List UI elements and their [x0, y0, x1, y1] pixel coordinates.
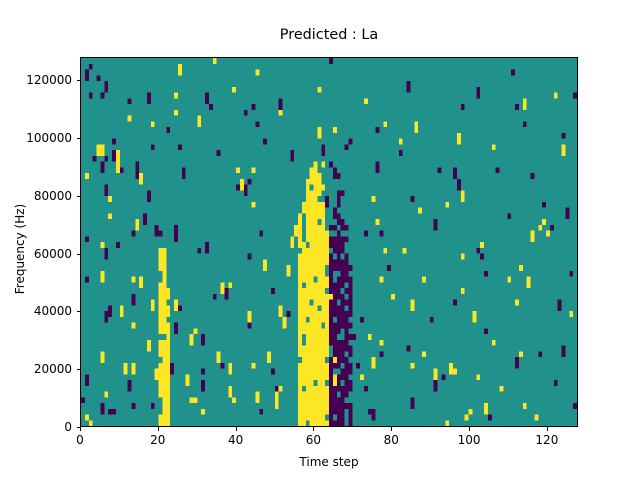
x-tick-mark — [391, 427, 392, 431]
x-tick-label: 60 — [306, 433, 321, 447]
y-tick-label: 0 — [0, 420, 72, 434]
x-tick-label: 80 — [384, 433, 399, 447]
x-tick-mark — [80, 427, 81, 431]
y-tick-label: 60000 — [0, 247, 72, 261]
y-tick-label: 80000 — [0, 189, 72, 203]
x-tick-label: 0 — [76, 433, 84, 447]
y-tick-mark — [77, 311, 81, 312]
y-tick-label: 120000 — [0, 73, 72, 87]
x-tick-mark — [547, 427, 548, 431]
y-tick-mark — [77, 196, 81, 197]
x-axis-label: Time step — [80, 455, 578, 469]
x-tick-mark — [236, 427, 237, 431]
y-tick-label: 20000 — [0, 362, 72, 376]
x-tick-label: 120 — [535, 433, 558, 447]
x-tick-mark — [313, 427, 314, 431]
y-tick-mark — [77, 254, 81, 255]
y-tick-mark — [77, 138, 81, 139]
x-tick-label: 40 — [228, 433, 243, 447]
figure-canvas: Predicted : La 020406080100120 020000400… — [0, 0, 640, 480]
x-tick-mark — [469, 427, 470, 431]
y-tick-label: 40000 — [0, 304, 72, 318]
x-tick-mark — [158, 427, 159, 431]
y-tick-mark — [77, 80, 81, 81]
heatmap-plot-area[interactable] — [80, 57, 578, 427]
x-tick-label: 20 — [150, 433, 165, 447]
y-axis-label: Frequency (Hz) — [13, 169, 27, 329]
page-title: Predicted : La — [80, 27, 578, 44]
y-tick-label: 100000 — [0, 131, 72, 145]
heatmap-image — [81, 58, 577, 426]
y-tick-mark — [77, 369, 81, 370]
x-tick-label: 100 — [458, 433, 481, 447]
y-tick-mark — [77, 427, 81, 428]
